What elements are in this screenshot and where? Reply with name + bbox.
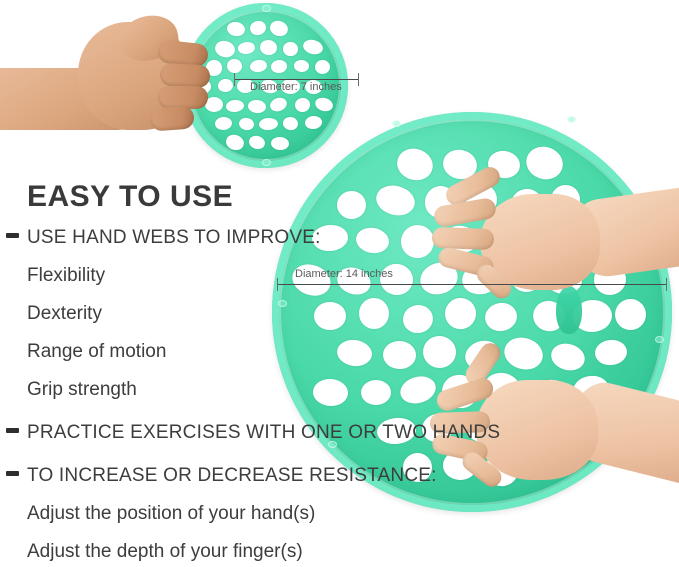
disc-hole xyxy=(248,99,267,114)
disc-notch-top-small xyxy=(262,5,271,12)
dash-marker-icon xyxy=(6,233,19,238)
bullet-label-3: TO INCREASE OR DECREASE RESISTANCE: xyxy=(27,464,437,487)
disc-hole xyxy=(268,19,290,39)
bullet-label-2: PRACTICE EXERCISES WITH ONE OR TWO HANDS xyxy=(27,421,500,444)
sub-item-flexibility: Flexibility xyxy=(0,264,470,287)
dimension-tick-right xyxy=(358,73,359,86)
disc-hole xyxy=(270,136,289,150)
sub-item-adjust-depth: Adjust the depth of your finger(s) xyxy=(0,540,470,563)
disc-hole xyxy=(281,78,301,93)
disc-hole xyxy=(301,38,324,57)
disc-hole xyxy=(294,60,310,73)
disc-hole xyxy=(282,42,297,56)
disc-hole xyxy=(393,144,437,184)
disc-hole xyxy=(294,97,311,114)
feature-text-block: EASY TO USE USE HAND WEBS TO IMPROVE: Fl… xyxy=(0,180,470,563)
sub-item-grip-strength: Grip strength xyxy=(0,378,470,401)
hand-closed-fist xyxy=(0,8,250,148)
disc-notch-topright-large xyxy=(567,116,576,123)
page-title: EASY TO USE xyxy=(0,180,470,214)
disc-hole xyxy=(313,95,334,113)
sub-item-range-of-motion: Range of motion xyxy=(0,340,470,363)
disc-hole xyxy=(268,95,289,113)
disc-hole xyxy=(260,78,280,95)
product-infographic: Diameter: 7 inches Diameter: 14 inches E… xyxy=(0,0,679,567)
disc-notch-topleft-large xyxy=(392,120,401,127)
disc-hole xyxy=(258,117,278,131)
disc-hole xyxy=(249,59,268,74)
disc-hole xyxy=(247,134,266,151)
finger-middle xyxy=(159,63,210,89)
dash-marker-icon xyxy=(6,428,19,433)
bullet-label-1: USE HAND WEBS TO IMPROVE: xyxy=(27,226,321,249)
disc-hole xyxy=(282,116,299,131)
disc-hole xyxy=(270,59,288,74)
dash-marker-icon xyxy=(6,471,19,476)
sub-item-adjust-position: Adjust the position of your hand(s) xyxy=(0,502,470,525)
bullet-item-1: USE HAND WEBS TO IMPROVE: xyxy=(0,226,470,249)
bullet-item-3: TO INCREASE OR DECREASE RESISTANCE: xyxy=(0,464,470,487)
sub-item-dexterity: Dexterity xyxy=(0,302,470,325)
bullet-item-2: PRACTICE EXERCISES WITH ONE OR TWO HANDS xyxy=(0,421,470,444)
disc-notch-bottom-small xyxy=(262,159,271,166)
disc-hole xyxy=(248,19,267,37)
disc-hole xyxy=(315,59,331,74)
disc-hole xyxy=(304,116,323,131)
disc-hole xyxy=(259,39,278,56)
disc-hole xyxy=(304,79,323,95)
finger-pinky xyxy=(149,105,194,131)
